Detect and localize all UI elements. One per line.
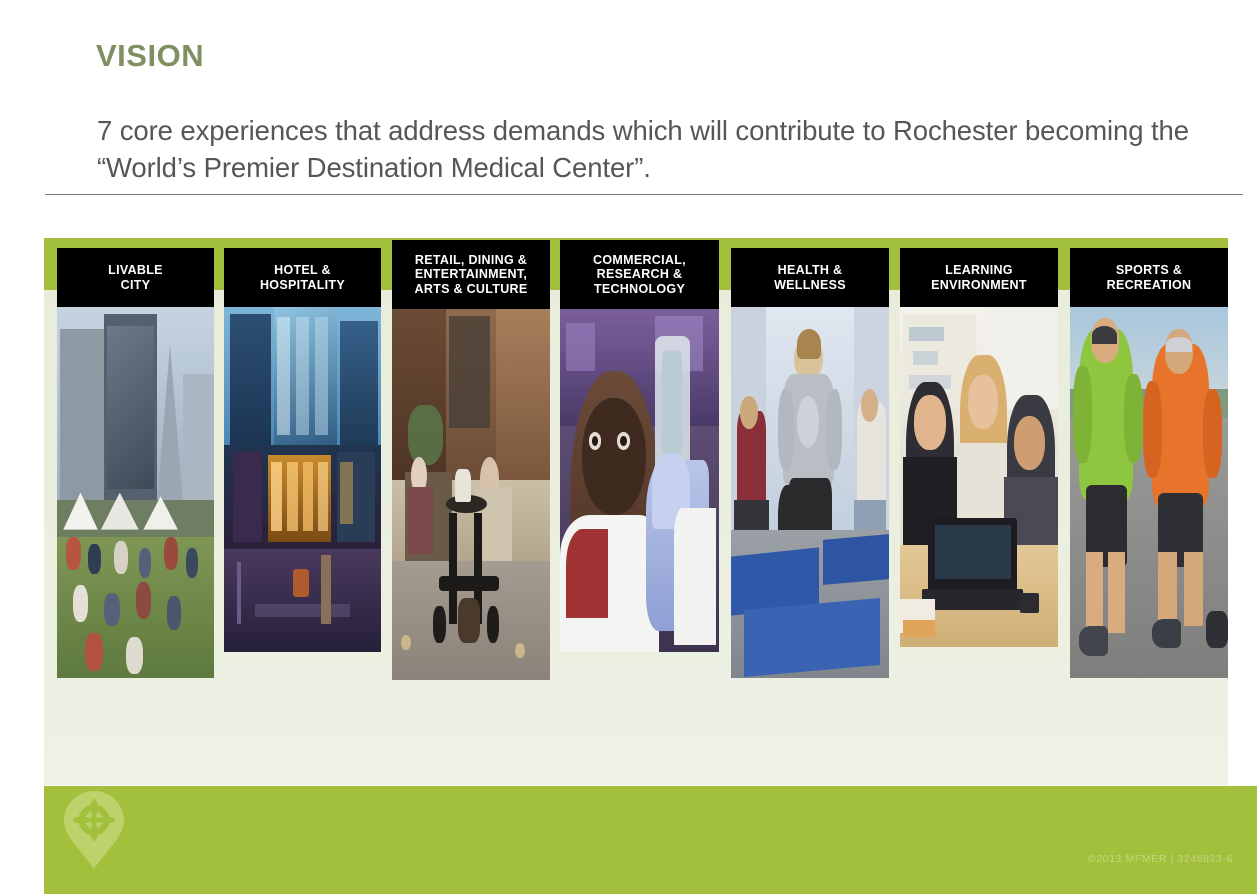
- panel-learning-environment[interactable]: LEARNING ENVIRONMENT: [900, 248, 1058, 647]
- panel-learning-environment-title: LEARNING ENVIRONMENT: [900, 248, 1058, 307]
- panel-hotel-hospitality-title: HOTEL & HOSPITALITY: [224, 248, 381, 307]
- copyright-text: ©2013 MFMER | 3246823-6: [1088, 853, 1233, 865]
- slide-root: VISION 7 core experiences that address d…: [0, 0, 1257, 894]
- panel-retail-dining-entertainment-arts-culture[interactable]: RETAIL, DINING & ENTERTAINMENT, ARTS & C…: [392, 240, 550, 680]
- panel-health-wellness-title: HEALTH & WELLNESS: [731, 248, 889, 307]
- panel-sports-recreation-title: SPORTS & RECREATION: [1070, 248, 1228, 307]
- panel-hotel-hospitality-image: [224, 307, 381, 652]
- panel-commercial-research-technology-title: COMMERCIAL, RESEARCH & TECHNOLOGY: [560, 240, 719, 309]
- panel-sports-recreation[interactable]: SPORTS & RECREATION: [1070, 248, 1228, 678]
- panel-hotel-hospitality[interactable]: HOTEL & HOSPITALITY: [224, 248, 381, 652]
- panel-sports-recreation-image: [1070, 307, 1228, 678]
- panel-retail-dining-entertainment-arts-culture-title: RETAIL, DINING & ENTERTAINMENT, ARTS & C…: [392, 240, 550, 309]
- panel-learning-environment-image: [900, 307, 1058, 647]
- panel-livable-city[interactable]: LIVABLE CITY: [57, 248, 214, 678]
- panel-commercial-research-technology[interactable]: COMMERCIAL, RESEARCH & TECHNOLOGY: [560, 240, 719, 652]
- panel-commercial-research-technology-image: [560, 309, 719, 652]
- panel-livable-city-title: LIVABLE CITY: [57, 248, 214, 307]
- footer-band: [44, 786, 1257, 894]
- category-panel-group: LIVABLE CITY: [0, 0, 1257, 894]
- panel-livable-city-image: [57, 307, 214, 678]
- map-pin-flower-logo: [64, 791, 124, 869]
- panel-health-wellness-image: [731, 307, 889, 678]
- panel-retail-dining-entertainment-arts-culture-image: [392, 309, 550, 680]
- panel-health-wellness[interactable]: HEALTH & WELLNESS: [731, 248, 889, 678]
